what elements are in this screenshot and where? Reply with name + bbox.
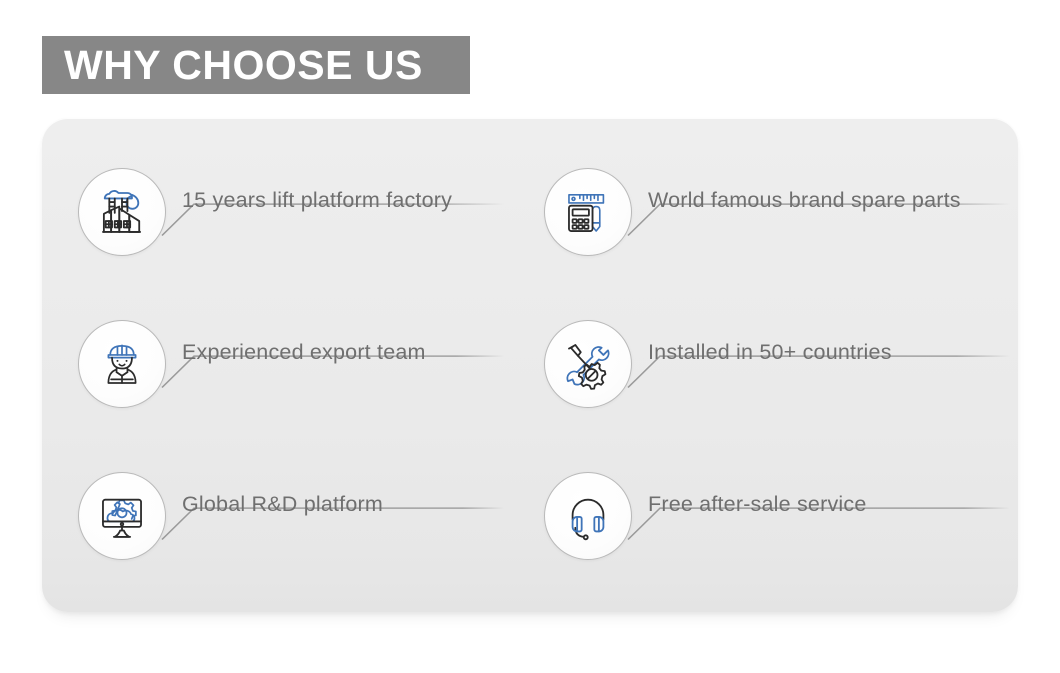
feature-label: World famous brand spare parts bbox=[648, 188, 961, 213]
feature-label: Global R&D platform bbox=[182, 492, 383, 517]
feature-label: 15 years lift platform factory bbox=[182, 188, 452, 213]
feature-item-export-team[interactable]: Experienced export team bbox=[78, 288, 544, 440]
feature-item-after-sale-service[interactable]: Free after-sale service bbox=[544, 440, 1010, 592]
factory-icon bbox=[78, 168, 166, 256]
feature-item-rd-platform[interactable]: Global R&D platform bbox=[78, 440, 544, 592]
features-grid: 15 years lift platform factory bbox=[42, 118, 1018, 612]
section-title-banner: WHY CHOOSE US bbox=[42, 36, 470, 94]
page-title: WHY CHOOSE US bbox=[42, 45, 423, 86]
feature-label: Installed in 50+ countries bbox=[648, 340, 892, 365]
why-choose-us-page: WHY CHOOSE US bbox=[0, 0, 1060, 673]
features-card: 15 years lift platform factory bbox=[42, 118, 1018, 612]
feature-item-spare-parts[interactable]: World famous brand spare parts bbox=[544, 136, 1010, 288]
feature-item-installed-countries[interactable]: Installed in 50+ countries bbox=[544, 288, 1010, 440]
feature-label: Experienced export team bbox=[182, 340, 426, 365]
monitor-gear-cloud-icon bbox=[78, 472, 166, 560]
wrench-screwdriver-gear-icon bbox=[544, 320, 632, 408]
worker-hardhat-icon bbox=[78, 320, 166, 408]
feature-label: Free after-sale service bbox=[648, 492, 866, 517]
feature-item-factory[interactable]: 15 years lift platform factory bbox=[78, 136, 544, 288]
headset-support-icon bbox=[544, 472, 632, 560]
calculator-ruler-pencil-icon bbox=[544, 168, 632, 256]
